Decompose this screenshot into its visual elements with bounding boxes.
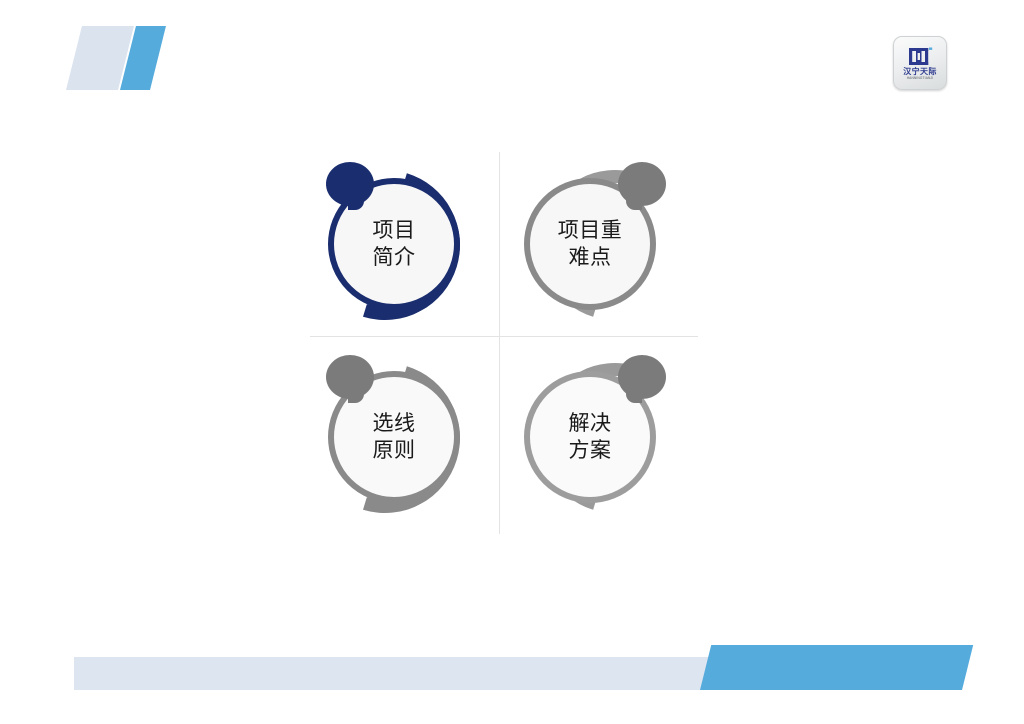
badge-assembly: 项目 简介	[300, 148, 500, 341]
speech-bubble-icon	[326, 162, 374, 206]
agenda-item-solution[interactable]: 解决 方案	[500, 341, 700, 534]
agenda-label: 项目 简介	[373, 217, 416, 271]
agenda-item-route-selection-principles[interactable]: 选线 原则	[300, 341, 500, 534]
logo-chinese-name: 汉宁天际	[903, 67, 937, 76]
speech-bubble-icon	[618, 162, 666, 206]
agenda-item-project-intro[interactable]: 项目 简介	[300, 148, 500, 341]
speech-bubble-icon	[618, 355, 666, 399]
agenda-grid: 项目 简介 项目重 难点 选线 原则	[300, 148, 700, 534]
badge-assembly: 项目重 难点	[500, 148, 700, 341]
logo-latin-name: HANNINGTIANJI	[907, 76, 934, 81]
speech-bubble-icon	[326, 355, 374, 399]
company-logo: 汉宁天际 HANNINGTIANJI	[893, 36, 947, 90]
agenda-label: 项目重 难点	[558, 217, 623, 271]
agenda-label: 选线 原则	[373, 410, 416, 464]
agenda-item-project-key-difficulties[interactable]: 项目重 难点	[500, 148, 700, 341]
agenda-label: 解决 方案	[569, 410, 612, 464]
slide-canvas: 汉宁天际 HANNINGTIANJI 项目 简介 项目重 难点	[0, 0, 1024, 724]
logo-monogram-icon	[907, 47, 933, 66]
badge-assembly: 解决 方案	[500, 341, 700, 534]
footer-blue-band-cap	[840, 645, 950, 690]
footer-pale-band	[74, 657, 724, 690]
angled-banner-decoration	[70, 26, 190, 90]
badge-assembly: 选线 原则	[300, 341, 500, 534]
